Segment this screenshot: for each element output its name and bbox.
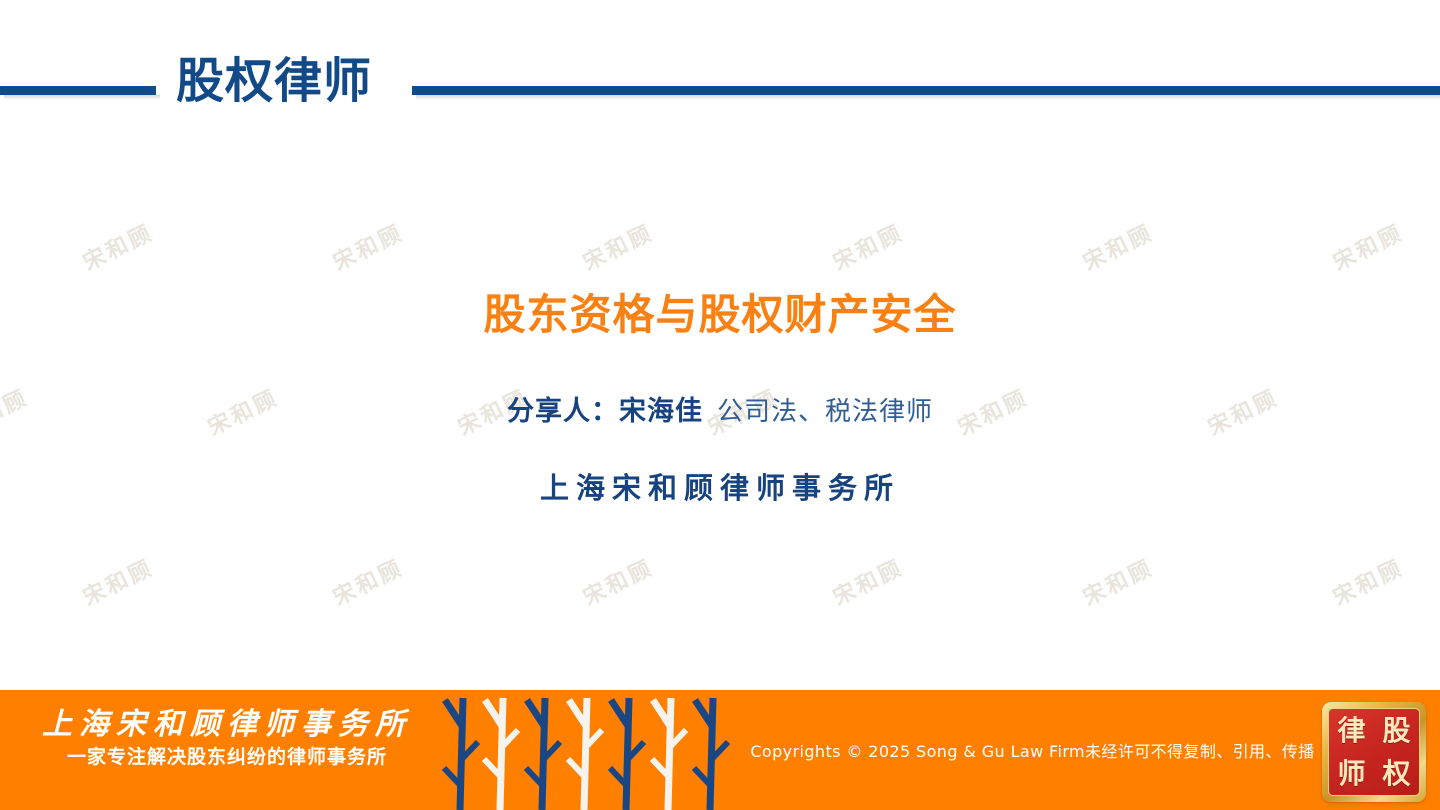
- firm-seal-inner: 律 股 师 权: [1328, 708, 1420, 796]
- seal-char-4: 权: [1382, 760, 1410, 788]
- slide-main: 股东资格与股权财产安全 分享人：宋海佳公司法、税法律师 上海宋和顾律师事务所: [0, 150, 1440, 690]
- branch-icon: [526, 698, 560, 810]
- presenter-line: 分享人：宋海佳公司法、税法律师: [0, 398, 1440, 425]
- seal-char-1: 律: [1337, 717, 1365, 745]
- branch-decoration-svg: [425, 690, 755, 810]
- copyright-text: Copyrights © 2025 Song & Gu Law Firm未经许可…: [760, 690, 1305, 810]
- branch-icon: [484, 698, 518, 810]
- presenter-role: 公司法、税法律师: [717, 396, 933, 426]
- branch-icon: [652, 698, 686, 810]
- header-rule-right-shadow: [416, 95, 1440, 100]
- seal-char-2: 股: [1382, 717, 1410, 745]
- branch-icon: [444, 698, 478, 810]
- footer-logo: 上海宋和顾律师事务所 一家专注解决股东纠纷的律师事务所: [42, 708, 412, 769]
- slide-root: 宋和顾宋和顾宋和顾宋和顾宋和顾宋和顾宋和顾宋和顾宋和顾宋和顾宋和顾宋和顾宋和顾宋…: [0, 0, 1440, 810]
- header-rule-left-shadow: [4, 95, 160, 100]
- branch-decoration: [425, 690, 755, 810]
- firm-seal-badge: 律 股 师 权: [1322, 702, 1426, 802]
- presenter-name: 宋海佳: [619, 396, 703, 426]
- slide-footer: 上海宋和顾律师事务所 一家专注解决股东纠纷的律师事务所 Copyrights ©…: [0, 690, 1440, 810]
- page-title: 股东资格与股权财产安全: [0, 294, 1440, 336]
- branch-icon: [610, 698, 644, 810]
- footer-logo-name: 上海宋和顾律师事务所: [42, 708, 412, 743]
- presenter-label: 分享人：: [507, 396, 619, 426]
- branch-icon: [694, 698, 728, 810]
- header-rule-left: [0, 86, 156, 95]
- footer-logo-tagline: 一家专注解决股东纠纷的律师事务所: [42, 745, 412, 770]
- branch-icon: [568, 698, 602, 810]
- header-rule-right: [412, 86, 1440, 95]
- firm-name: 上海宋和顾律师事务所: [0, 475, 1440, 504]
- seal-char-3: 师: [1337, 760, 1365, 788]
- slide-header: 股权律师: [0, 0, 1440, 140]
- header-title: 股权律师: [176, 58, 372, 106]
